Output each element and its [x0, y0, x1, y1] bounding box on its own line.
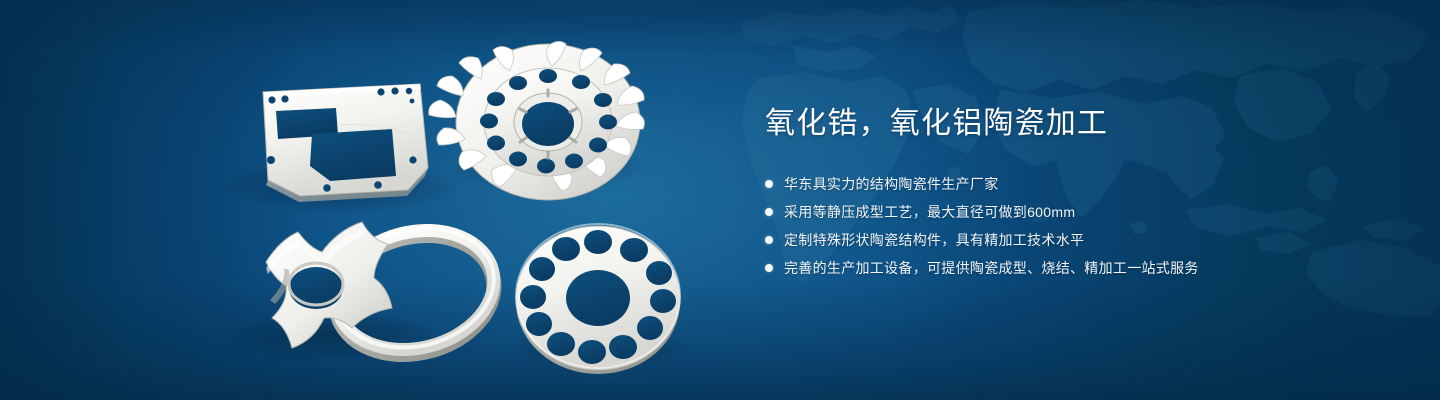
- feature-text: 采用等静压成型工艺，最大直径可做到600mm: [784, 204, 1075, 220]
- feature-text: 定制特殊形状陶瓷结构件，具有精加工技术水平: [784, 232, 1084, 248]
- bullet-dot-icon: [765, 208, 773, 216]
- feature-list: 华东具实力的结构陶瓷件生产厂家 采用等静压成型工艺，最大直径可做到600mm 定…: [765, 174, 1385, 278]
- banner-headline: 氧化锆，氧化铝陶瓷加工: [765, 104, 1385, 144]
- feature-list-item: 采用等静压成型工艺，最大直径可做到600mm: [765, 202, 1385, 222]
- feature-list-item: 定制特殊形状陶瓷结构件，具有精加工技术水平: [765, 230, 1385, 250]
- hero-banner: 氧化锆，氧化铝陶瓷加工 华东具实力的结构陶瓷件生产厂家 采用等静压成型工艺，最大…: [0, 0, 1440, 400]
- bullet-dot-icon: [765, 236, 773, 244]
- banner-copy: 氧化锆，氧化铝陶瓷加工 华东具实力的结构陶瓷件生产厂家 采用等静压成型工艺，最大…: [765, 104, 1385, 278]
- feature-list-item: 华东具实力的结构陶瓷件生产厂家: [765, 174, 1385, 194]
- feature-text: 完善的生产加工设备，可提供陶瓷成型、烧结、精加工一站式服务: [784, 260, 1199, 276]
- bullet-dot-icon: [765, 264, 773, 272]
- bullet-dot-icon: [765, 180, 773, 188]
- feature-text: 华东具实力的结构陶瓷件生产厂家: [784, 176, 999, 192]
- feature-list-item: 完善的生产加工设备，可提供陶瓷成型、烧结、精加工一站式服务: [765, 258, 1385, 278]
